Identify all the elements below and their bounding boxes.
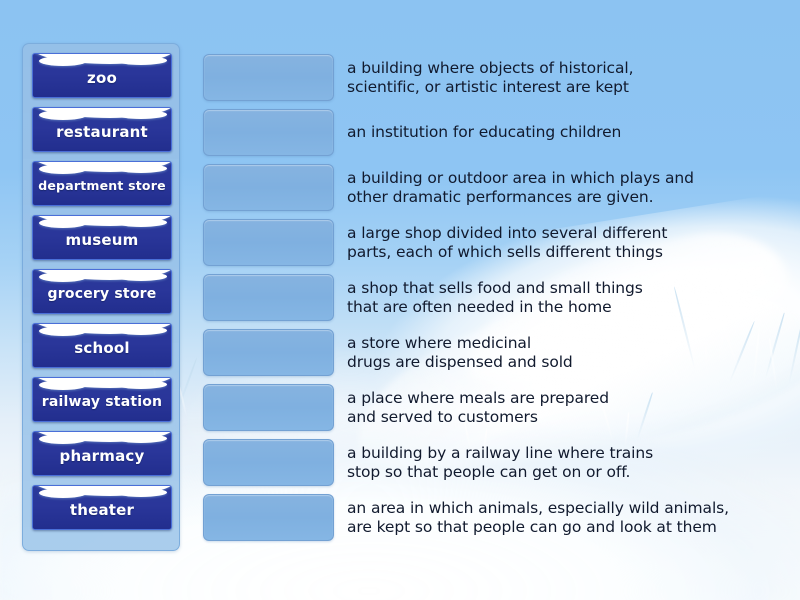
definition-line: a shop that sells food and small things bbox=[347, 279, 643, 298]
definition-line: stop so that people can get on or off. bbox=[347, 463, 653, 482]
definition-text: an area in which animals, especially wil… bbox=[347, 499, 729, 537]
match-row: a building where objects of historical,s… bbox=[203, 54, 783, 101]
definition-line: a place where meals are prepared bbox=[347, 389, 609, 408]
match-row: a large shop divided into several differ… bbox=[203, 219, 783, 266]
definition-text: a building where objects of historical,s… bbox=[347, 59, 633, 97]
match-row: a building by a railway line where train… bbox=[203, 439, 783, 486]
word-tile-panel: zoorestaurantdepartment storemuseumgroce… bbox=[22, 43, 180, 551]
definition-line: an institution for educating children bbox=[347, 123, 621, 142]
word-tile[interactable]: grocery store bbox=[32, 269, 172, 314]
definition-line: a building or outdoor area in which play… bbox=[347, 169, 694, 188]
definition-line: an area in which animals, especially wil… bbox=[347, 499, 729, 518]
definition-line: drugs are dispensed and sold bbox=[347, 353, 573, 372]
definition-line: a building where objects of historical, bbox=[347, 59, 633, 78]
match-row: a store where medicinaldrugs are dispens… bbox=[203, 329, 783, 376]
snow-cap-icon bbox=[32, 323, 172, 334]
answer-dropzone[interactable] bbox=[203, 54, 334, 101]
word-tile[interactable]: zoo bbox=[32, 53, 172, 98]
match-row: an institution for educating children bbox=[203, 109, 783, 156]
answer-dropzone[interactable] bbox=[203, 164, 334, 211]
definition-line: a large shop divided into several differ… bbox=[347, 224, 667, 243]
snow-cap-icon bbox=[32, 485, 172, 496]
definition-line: a store where medicinal bbox=[347, 334, 573, 353]
definition-line: scientific, or artistic interest are kep… bbox=[347, 78, 633, 97]
answer-dropzone[interactable] bbox=[203, 329, 334, 376]
word-tile[interactable]: department store bbox=[32, 161, 172, 206]
word-tile-label: grocery store bbox=[48, 282, 157, 302]
word-tile[interactable]: restaurant bbox=[32, 107, 172, 152]
word-tile-label: railway station bbox=[42, 390, 162, 410]
word-tile[interactable]: railway station bbox=[32, 377, 172, 422]
snow-cap-icon bbox=[32, 431, 172, 442]
definition-text: an institution for educating children bbox=[347, 123, 621, 142]
word-tile[interactable]: school bbox=[32, 323, 172, 368]
word-tile-label: restaurant bbox=[56, 119, 148, 141]
definition-line: a building by a railway line where train… bbox=[347, 444, 653, 463]
answer-dropzone[interactable] bbox=[203, 109, 334, 156]
word-tile-label: theater bbox=[70, 497, 134, 519]
match-row: a place where meals are preparedand serv… bbox=[203, 384, 783, 431]
definition-line: other dramatic performances are given. bbox=[347, 188, 694, 207]
match-row: an area in which animals, especially wil… bbox=[203, 494, 783, 541]
word-tile-label: museum bbox=[66, 227, 139, 249]
match-row: a building or outdoor area in which play… bbox=[203, 164, 783, 211]
definition-text: a shop that sells food and small thingst… bbox=[347, 279, 643, 317]
snow-cap-icon bbox=[32, 161, 172, 172]
answer-dropzone[interactable] bbox=[203, 219, 334, 266]
definition-line: parts, each of which sells different thi… bbox=[347, 243, 667, 262]
grass-blade-icon bbox=[788, 319, 800, 384]
word-tile[interactable]: pharmacy bbox=[32, 431, 172, 476]
definition-text: a place where meals are preparedand serv… bbox=[347, 389, 609, 427]
word-tile[interactable]: museum bbox=[32, 215, 172, 260]
snow-cap-icon bbox=[32, 107, 172, 118]
word-tile-label: zoo bbox=[87, 65, 117, 87]
answer-dropzone[interactable] bbox=[203, 384, 334, 431]
answer-dropzone[interactable] bbox=[203, 494, 334, 541]
snow-cap-icon bbox=[32, 215, 172, 226]
snow-cap-icon bbox=[32, 53, 172, 64]
word-tile[interactable]: theater bbox=[32, 485, 172, 530]
match-rows-list: a building where objects of historical,s… bbox=[203, 54, 783, 549]
word-tile-label: pharmacy bbox=[60, 443, 145, 465]
definition-line: are kept so that people can go and look … bbox=[347, 518, 729, 537]
snow-cap-icon bbox=[32, 377, 172, 388]
word-tile-label: department store bbox=[38, 174, 166, 193]
definition-line: and served to customers bbox=[347, 408, 609, 427]
definition-text: a building or outdoor area in which play… bbox=[347, 169, 694, 207]
definition-text: a building by a railway line where train… bbox=[347, 444, 653, 482]
answer-dropzone[interactable] bbox=[203, 274, 334, 321]
word-tile-label: school bbox=[74, 335, 129, 357]
activity-stage: zoorestaurantdepartment storemuseumgroce… bbox=[0, 0, 800, 600]
match-row: a shop that sells food and small thingst… bbox=[203, 274, 783, 321]
definition-text: a store where medicinaldrugs are dispens… bbox=[347, 334, 573, 372]
definition-text: a large shop divided into several differ… bbox=[347, 224, 667, 262]
definition-line: that are often needed in the home bbox=[347, 298, 643, 317]
snow-cap-icon bbox=[32, 269, 172, 280]
answer-dropzone[interactable] bbox=[203, 439, 334, 486]
